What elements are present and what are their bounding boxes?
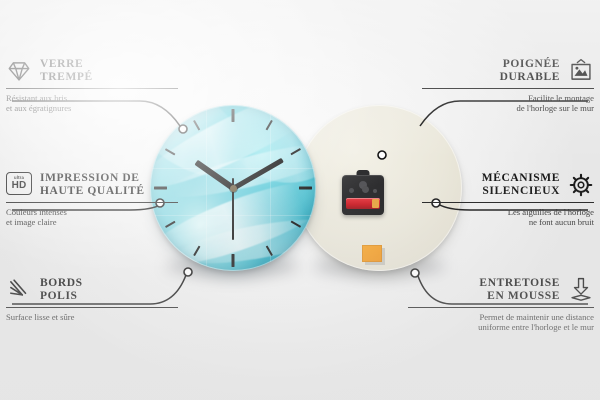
feature-title-line2: DURABLE: [500, 71, 560, 83]
feature-divider: [6, 202, 178, 203]
feature-desc-line2: uniforme entre l'horloge et le mur: [478, 322, 594, 332]
feature-title-line2: TREMPÉ: [40, 71, 93, 83]
feature-desc-line1: Les aiguilles de l'horloge: [508, 207, 594, 217]
feature-divider: [6, 307, 178, 308]
feature-divider: [6, 88, 178, 89]
feature-title: VERRE TREMPÉ: [40, 58, 93, 83]
feature-title-line1: IMPRESSION DE: [40, 172, 140, 184]
connector-dot-bords-polis: [184, 268, 192, 276]
feature-desc-line2: de l'horloge sur le mur: [517, 103, 594, 113]
connector-dot-poignee: [378, 151, 386, 159]
feature-description: Couleurs intenses et image claire: [6, 207, 178, 228]
feature-description: Facilite le montage de l'horloge sur le …: [422, 93, 594, 114]
feature-title-line1: MÉCANISME: [482, 172, 560, 184]
connector-dot-entretoise: [411, 269, 419, 277]
feature-desc-line1: Surface lisse et sûre: [6, 312, 75, 322]
feature-desc-line2: ne font aucun bruit: [529, 217, 594, 227]
feature-divider: [408, 307, 594, 308]
feature-desc-line1: Résistant aux bris: [6, 93, 67, 103]
feature-poignee-durable: POIGNÉE DURABLE Facilite le montage de l…: [422, 58, 594, 114]
feature-entretoise-mousse: ENTRETOISE EN MOUSSE Permet de maintenir…: [408, 277, 594, 333]
gear-icon: [568, 172, 594, 198]
feature-verre-trempe: VERRE TREMPÉ Résistant aux bris et aux é…: [6, 58, 178, 114]
feature-title-line2: EN MOUSSE: [487, 290, 560, 302]
diamond-icon: [6, 58, 32, 84]
feature-desc-line1: Facilite le montage: [528, 93, 594, 103]
feature-title-line1: POIGNÉE: [503, 58, 560, 70]
ultra-hd-icon-main-text: HD: [12, 181, 27, 191]
feature-desc-line1: Couleurs intenses: [6, 207, 67, 217]
feature-title: MÉCANISME SILENCIEUX: [482, 172, 560, 197]
feature-impression-hd: ultra HD IMPRESSION DE HAUTE QUALITÉ Cou…: [6, 172, 178, 228]
product-infographic: VERRE TREMPÉ Résistant aux bris et aux é…: [0, 0, 600, 400]
feature-desc-line2: et aux égratignures: [6, 103, 71, 113]
feature-header: ultra HD IMPRESSION DE HAUTE QUALITÉ: [6, 172, 178, 198]
feature-title: ENTRETOISE EN MOUSSE: [479, 277, 560, 302]
feature-header: ENTRETOISE EN MOUSSE: [408, 277, 594, 303]
feature-title-line1: BORDS: [40, 277, 83, 289]
feature-description: Permet de maintenir une distance uniform…: [408, 312, 594, 333]
feature-title-line2: POLIS: [40, 290, 78, 302]
feature-title-line1: ENTRETOISE: [479, 277, 560, 289]
feature-header: POIGNÉE DURABLE: [422, 58, 594, 84]
feature-description: Surface lisse et sûre: [6, 312, 178, 322]
feature-title-line1: VERRE: [40, 58, 83, 70]
feature-description: Les aiguilles de l'horloge ne font aucun…: [422, 207, 594, 228]
feature-title: BORDS POLIS: [40, 277, 83, 302]
picture-hanger-icon: [568, 58, 594, 84]
feature-title-line2: SILENCIEUX: [482, 185, 560, 197]
feature-desc-line1: Permet de maintenir une distance: [479, 312, 594, 322]
feature-mecanisme-silencieux: MÉCANISME SILENCIEUX Les aiguilles de l'…: [422, 172, 594, 228]
feature-header: MÉCANISME SILENCIEUX: [422, 172, 594, 198]
feature-header: VERRE TREMPÉ: [6, 58, 178, 84]
feature-title: POIGNÉE DURABLE: [500, 58, 560, 83]
feature-title-line2: HAUTE QUALITÉ: [40, 185, 145, 197]
feature-bords-polis: BORDS POLIS Surface lisse et sûre: [6, 277, 178, 322]
feature-description: Résistant aux bris et aux égratignures: [6, 93, 178, 114]
polished-edges-icon: [6, 277, 32, 303]
ultra-hd-icon: ultra HD: [6, 172, 32, 198]
feature-desc-line2: et image claire: [6, 217, 57, 227]
feature-divider: [422, 202, 594, 203]
connector-dot-verre-trempe: [179, 125, 187, 133]
feature-title: IMPRESSION DE HAUTE QUALITÉ: [40, 172, 145, 197]
feature-divider: [422, 88, 594, 89]
foam-spacer-icon: [568, 277, 594, 303]
feature-header: BORDS POLIS: [6, 277, 178, 303]
